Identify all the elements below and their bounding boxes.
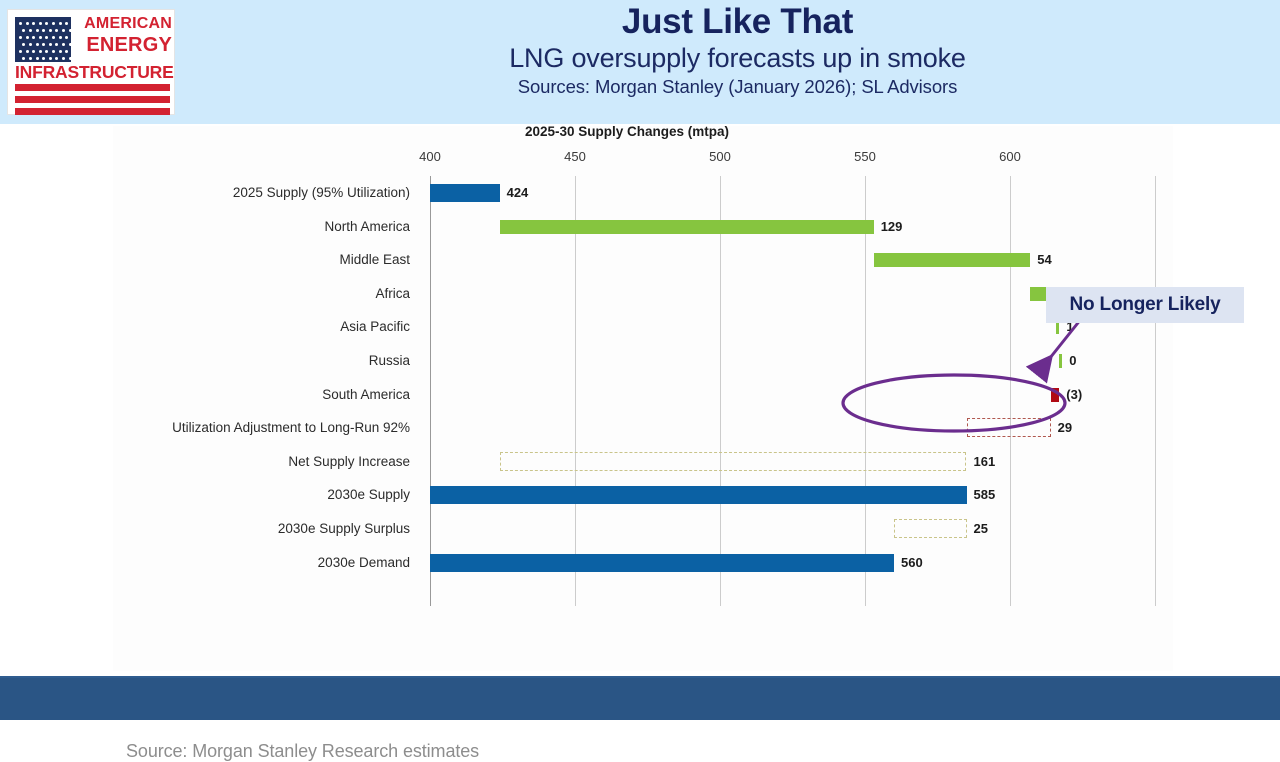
bar <box>894 519 967 538</box>
bar-row: Net Supply Increase161 <box>110 445 1155 479</box>
chart-axis-title: 2025-30 Supply Changes (mtpa) <box>430 124 1155 139</box>
page-subtitle: LNG oversupply forecasts up in smoke <box>200 43 1275 74</box>
flag-stripe <box>15 96 170 103</box>
annotation-callout: No Longer Likely <box>1046 287 1244 323</box>
bar <box>430 554 894 572</box>
logo: AMERICAN ENERGY INFRASTRUCTURE <box>7 9 175 115</box>
axis-tick-label: 500 <box>709 149 731 164</box>
axis-tick-label: 450 <box>564 149 586 164</box>
bar <box>874 253 1031 267</box>
gridline <box>1155 176 1156 606</box>
axis-tick-label: 600 <box>999 149 1021 164</box>
page-sources: Sources: Morgan Stanley (January 2026); … <box>200 76 1275 98</box>
bar-value-label: 424 <box>507 176 529 210</box>
bar-value-label: 560 <box>901 546 923 580</box>
bar-category-label: 2030e Supply Surplus <box>110 512 410 546</box>
annotation-label: No Longer Likely <box>1070 294 1221 316</box>
footer-bar <box>0 676 1280 720</box>
bar-category-label: South America <box>110 378 410 412</box>
bar-row: 2030e Demand560 <box>110 546 1155 580</box>
bar <box>500 220 874 234</box>
bar <box>500 452 967 471</box>
bar <box>430 486 967 504</box>
bar-row: 2025 Supply (95% Utilization)424 <box>110 176 1155 210</box>
bar-value-label: 129 <box>881 210 903 244</box>
chart-container: 2025-30 Supply Changes (mtpa) 4004505005… <box>0 124 1280 676</box>
flag-stripe <box>15 108 170 115</box>
flag-stripe <box>15 84 170 91</box>
bar-value-label: 25 <box>974 512 988 546</box>
bar-category-label: 2030e Supply <box>110 478 410 512</box>
logo-line-infrastructure: INFRASTRUCTURE <box>15 64 170 82</box>
bar-category-label: Utilization Adjustment to Long-Run 92% <box>110 411 410 445</box>
chart-source-note: Source: Morgan Stanley Research estimate… <box>126 741 479 762</box>
bar-category-label: North America <box>110 210 410 244</box>
bar-value-label: 585 <box>974 478 996 512</box>
bar-row: Middle East54 <box>110 243 1155 277</box>
bar-category-label: 2025 Supply (95% Utilization) <box>110 176 410 210</box>
bar-row: North America129 <box>110 210 1155 244</box>
axis-tick-label: 400 <box>419 149 441 164</box>
header-banner: AMERICAN ENERGY INFRASTRUCTURE Just Like… <box>0 0 1280 124</box>
logo-line-energy: ENERGY <box>76 35 172 55</box>
bar-row: 2030e Supply Surplus25 <box>110 512 1155 546</box>
annotation-arrow-icon <box>820 304 1120 444</box>
footer-bar-accent <box>0 676 1280 678</box>
plot-area: 2025-30 Supply Changes (mtpa) 4004505005… <box>430 176 1155 723</box>
bar-value-label: 161 <box>974 445 996 479</box>
page-title: Just Like That <box>200 4 1275 41</box>
bar <box>430 184 500 202</box>
bar-row: 2030e Supply585 <box>110 478 1155 512</box>
bar-category-label: Africa <box>110 277 410 311</box>
bar-category-label: 2030e Demand <box>110 546 410 580</box>
flag-icon <box>15 17 71 62</box>
bar-category-label: Asia Pacific <box>110 310 410 344</box>
bar-value-label: 54 <box>1037 243 1051 277</box>
title-block: Just Like That LNG oversupply forecasts … <box>200 4 1275 98</box>
logo-line-american: AMERICAN <box>76 16 172 32</box>
bar-category-label: Net Supply Increase <box>110 445 410 479</box>
bar-category-label: Middle East <box>110 243 410 277</box>
axis-tick-label: 550 <box>854 149 876 164</box>
bar-category-label: Russia <box>110 344 410 378</box>
